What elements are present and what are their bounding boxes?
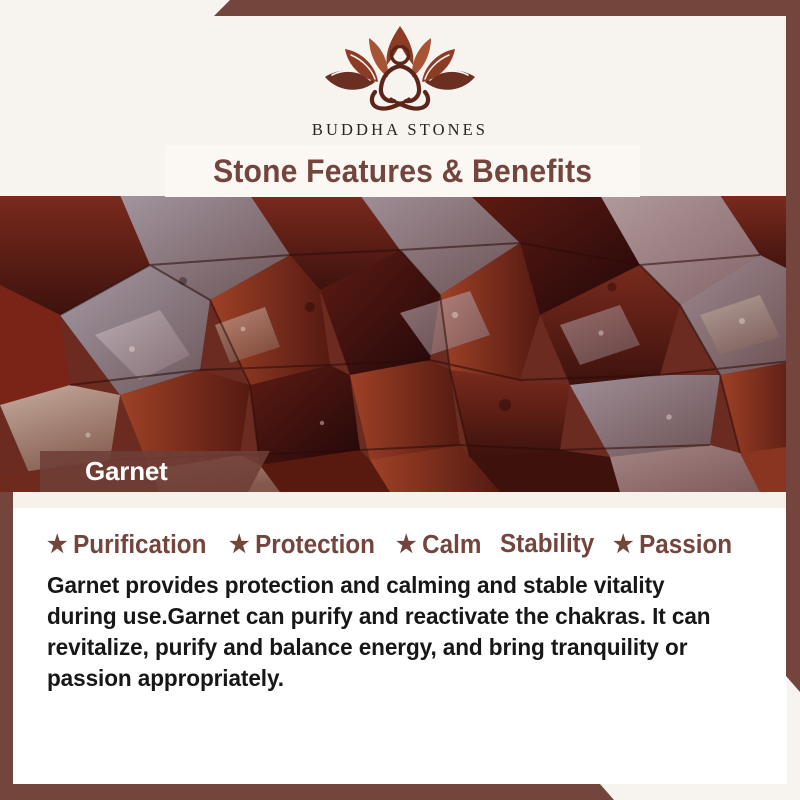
hero-image: [0, 195, 800, 492]
feature-item-stability: Stability: [500, 530, 594, 559]
details-panel: ★Purification★Protection★CalmStability★P…: [13, 508, 787, 784]
star-icon: ★: [613, 533, 633, 557]
star-icon: ★: [396, 533, 416, 557]
page-title: Stone Features & Benefits: [213, 153, 592, 190]
feature-item-purification: ★Purification: [47, 531, 206, 560]
feature-label: Passion: [640, 531, 733, 560]
frame-border-right: [786, 0, 800, 692]
stone-info-card: Garnet: [0, 0, 800, 800]
feature-label: Stability: [500, 530, 594, 559]
brand-name: BUDDHA STONES: [312, 120, 488, 140]
stone-name: Garnet: [85, 456, 168, 487]
frame-border-left: [0, 492, 13, 800]
star-icon: ★: [47, 533, 67, 557]
description-text: Garnet provides protection and calming a…: [47, 570, 731, 694]
title-banner: Stone Features & Benefits: [165, 145, 640, 197]
feature-item-calm: ★Calm: [396, 531, 481, 560]
frame-border-bottom: [0, 784, 800, 800]
feature-label: Purification: [73, 531, 206, 560]
lotus-meditation-figure-icon: [312, 22, 488, 114]
star-icon: ★: [229, 533, 249, 557]
feature-label: Protection: [255, 531, 375, 560]
feature-item-passion: ★Passion: [613, 531, 732, 560]
stone-name-banner: Garnet: [40, 451, 270, 492]
feature-label: Calm: [423, 531, 482, 560]
feature-list: ★Purification★Protection★CalmStability★P…: [47, 530, 763, 560]
body-top-strip: [13, 492, 787, 508]
brand-lockup: BUDDHA STONES: [0, 22, 800, 140]
feature-item-protection: ★Protection: [229, 531, 375, 560]
